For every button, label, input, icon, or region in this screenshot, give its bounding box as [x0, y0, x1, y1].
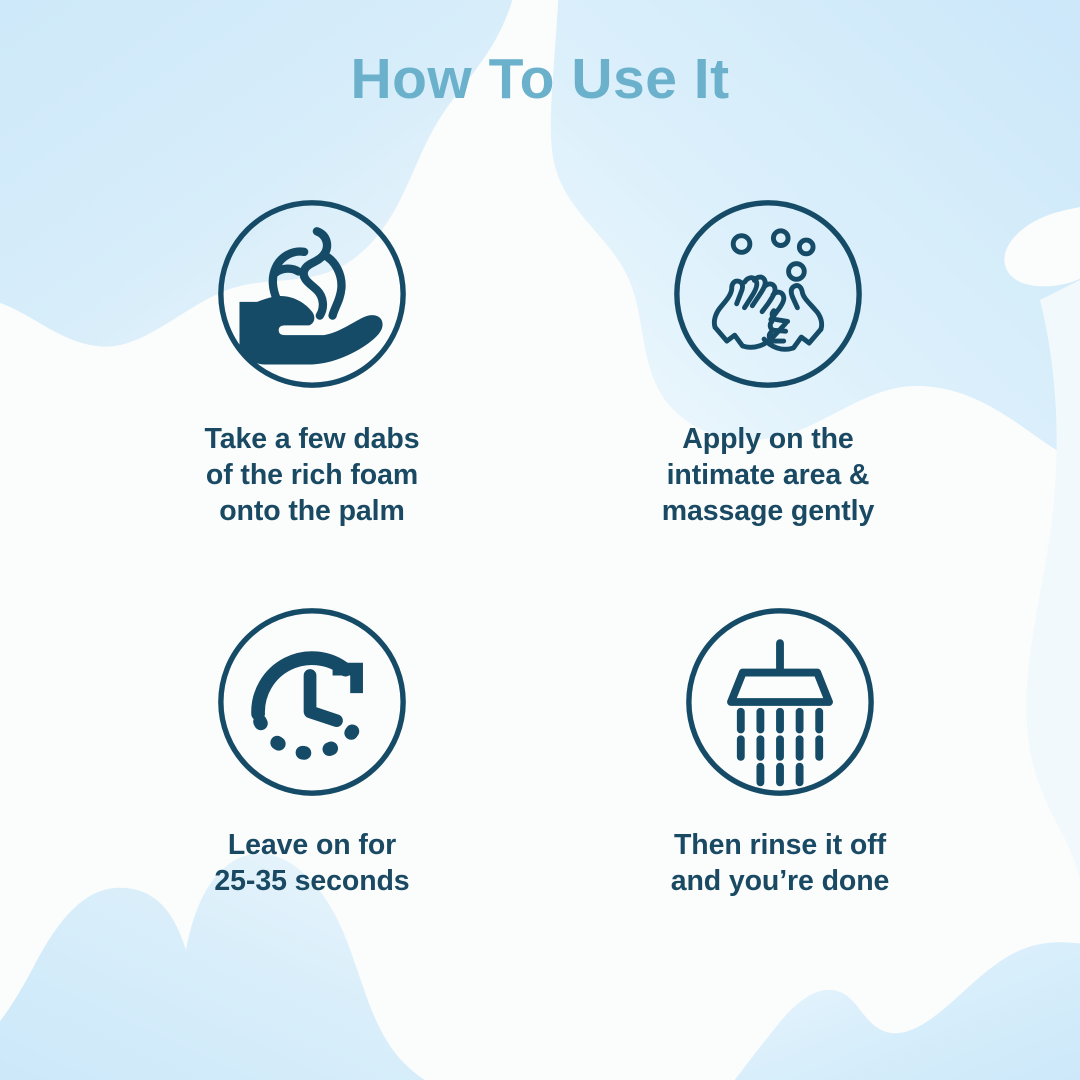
- step-item-2: Apply on the intimate area & massage gen…: [552, 196, 984, 530]
- step-caption-3: Leave on for 25-35 seconds: [214, 828, 409, 900]
- page-title: How To Use It: [0, 48, 1080, 111]
- shower-head-shape: [731, 672, 829, 701]
- how-to-use-poster: How To Use It Take a few dabs of the ric…: [0, 0, 1080, 1080]
- timer-arc-solid: [258, 658, 345, 714]
- hand-with-foam-icon: [214, 196, 410, 392]
- timer-clock-icon: [214, 604, 410, 800]
- timer-arc-dashed: [260, 713, 361, 752]
- bubble-2: [773, 231, 788, 246]
- bubble-1: [733, 236, 750, 253]
- step-item-3: Leave on for 25-35 seconds: [96, 604, 528, 900]
- step-item-4: Then rinse it off and you’re done: [564, 604, 996, 900]
- bubble-4: [789, 264, 805, 280]
- clock-hands: [310, 675, 336, 720]
- blob-right-wash: [1026, 280, 1080, 880]
- shower-water-drops: [741, 712, 819, 783]
- blob-bottom-right: [700, 942, 1080, 1080]
- step-item-1: Take a few dabs of the rich foam onto th…: [96, 196, 528, 530]
- shower-head-icon: [682, 604, 878, 800]
- step-caption-4: Then rinse it off and you’re done: [671, 828, 890, 900]
- rubbing-hands-with-bubbles-icon: [670, 196, 866, 392]
- bubble-3: [799, 240, 813, 254]
- step-caption-2: Apply on the intimate area & massage gen…: [662, 422, 874, 530]
- timer-arrow-head: [333, 663, 363, 693]
- steps-grid: Take a few dabs of the rich foam onto th…: [108, 196, 972, 900]
- step-caption-1: Take a few dabs of the rich foam onto th…: [205, 422, 420, 530]
